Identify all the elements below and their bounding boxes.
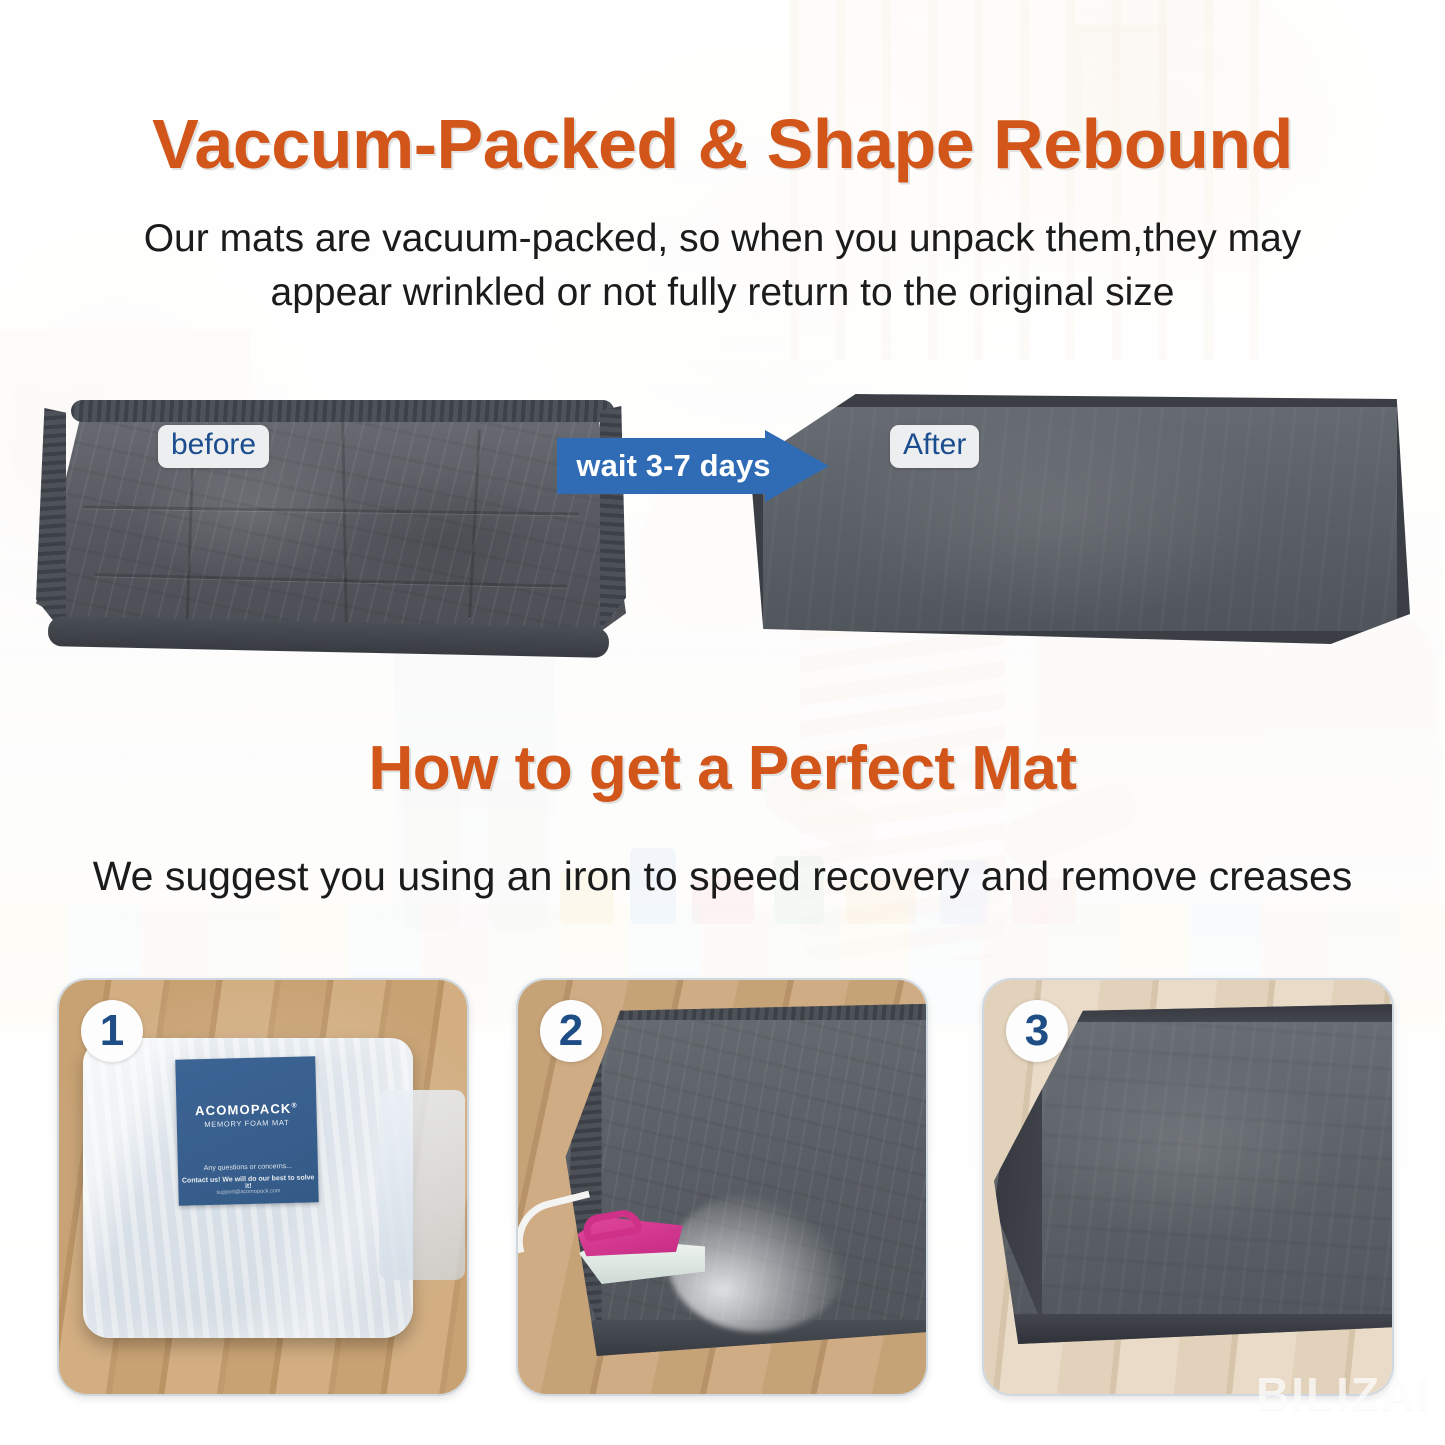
before-mat-surface [36,400,626,648]
step-number-badge-3: 3 [1006,1000,1068,1062]
registered-trademark-icon: ® [291,1102,298,1109]
section-one-subtitle-line-1: Our mats are vacuum-packed, so when you … [0,212,1445,266]
steam-iron [573,1212,705,1284]
section-one-heading: Vaccum-Packed & Shape Rebound [0,104,1445,184]
brand-name: ACOMOPACK® [176,1100,316,1118]
watermark: BILIZAI [1256,1367,1431,1421]
brand-name-text: ACOMOPACK [195,1101,292,1118]
before-mat-photo [36,400,626,648]
step-3-mat-top-edge [1075,1004,1394,1022]
step-number-badge-1: 1 [81,1000,143,1062]
step-3-mat-bottom-edge [1010,1314,1394,1344]
before-mat-top-edge [71,400,614,422]
step-panel-3: 3 [982,978,1394,1396]
after-label-badge: After [890,425,979,468]
card-question-line: Any questions or concerns... [178,1162,318,1172]
section-one-subtitle-line-2: appear wrinkled or not fully return to t… [0,266,1445,320]
product-tagline: MEMORY FOAM MAT [177,1117,317,1129]
step-panel-1: ACOMOPACK® MEMORY FOAM MAT Any questions… [57,978,469,1396]
before-mat-left-edge [36,408,66,641]
arrow-label: wait 3-7 days [571,438,776,494]
section-two-subtitle: We suggest you using an iron to speed re… [0,848,1445,905]
before-label-badge: before [158,425,269,468]
steps-gallery: ACOMOPACK® MEMORY FOAM MAT Any questions… [0,978,1445,1398]
before-after-comparison [0,382,1445,662]
step-2-mat-top-edge [612,1000,928,1020]
section-one-subtitle: Our mats are vacuum-packed, so when you … [0,212,1445,320]
section-two-heading: How to get a Perfect Mat [0,733,1445,804]
step-panel-2: 2 [516,978,928,1396]
product-info-card: ACOMOPACK® MEMORY FOAM MAT Any questions… [175,1056,319,1205]
wait-arrow: wait 3-7 days [557,438,829,494]
after-mat-photo [750,394,1410,644]
after-mat-surface [750,394,1410,644]
step-number-badge-2: 2 [540,1000,602,1062]
plastic-flap [379,1090,465,1280]
